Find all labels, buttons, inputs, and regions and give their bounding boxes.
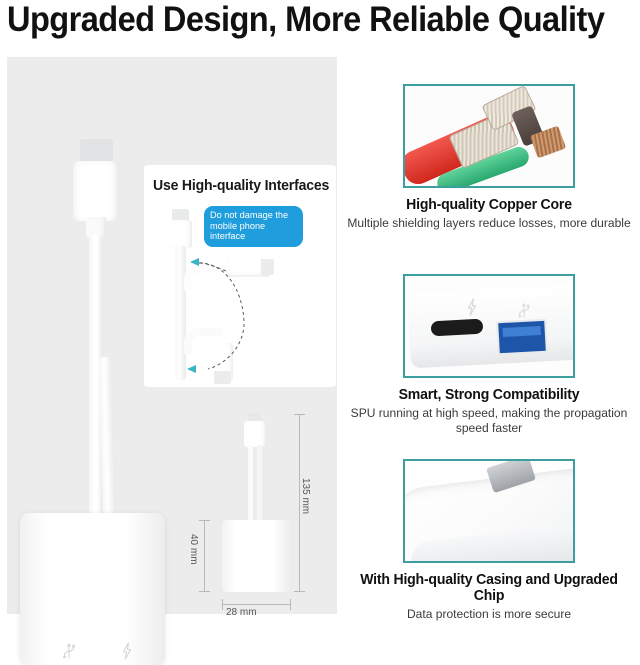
warning-callout-bubble: Do not damage the mobile phone interface [204, 206, 303, 247]
feature-compatibility: Smart, Strong Compatibility SPU running … [344, 274, 634, 436]
dim-height-cap-bottom [294, 591, 305, 592]
feature-subtitle: Multiple shielding layers reduce losses,… [347, 216, 631, 231]
usb3-port [496, 319, 548, 356]
dim-adapter-body [222, 520, 290, 592]
adapter-body [20, 513, 165, 665]
lightning-connector-body [73, 161, 119, 221]
feature-copper-core: High-quality Copper Core Multiple shield… [344, 84, 634, 231]
lightning-port [431, 319, 484, 337]
dim-depth-cap-top [199, 520, 210, 521]
interface-warning-card: Use High-quality Interfaces Do not damag… [144, 165, 336, 387]
dim-width-cap-right [290, 599, 291, 610]
dim-width-label: 28 mm [226, 607, 257, 618]
usb3-tongue [503, 326, 541, 337]
card-connector-body [169, 220, 192, 248]
feature-casing-chip: With High-quality Casing and Upgraded Ch… [344, 459, 634, 622]
page-title: Upgraded Design, More Reliable Quality [7, 0, 604, 42]
page-header: Upgraded Design, More Reliable Quality [0, 0, 640, 43]
lightning-bolt-icon [121, 642, 133, 660]
feature-subtitle: SPU running at high speed, making the pr… [347, 406, 631, 436]
dim-cable-left [248, 445, 253, 523]
dim-depth-line [204, 520, 205, 592]
feature-title: With High-quality Casing and Upgraded Ch… [348, 572, 629, 604]
cable-secondary [99, 357, 116, 515]
dim-cable-right [257, 445, 262, 523]
usb-icon [61, 642, 77, 660]
dim-connector-body [244, 421, 266, 447]
feature-title: Smart, Strong Compatibility [348, 387, 629, 403]
interface-card-title: Use High-quality Interfaces [153, 178, 329, 194]
dim-width-cap-left [222, 599, 223, 610]
dim-width-line [222, 604, 291, 605]
usb-icon [517, 302, 531, 319]
dim-height-label: 135 mm [300, 478, 311, 514]
dim-depth-label: 40 mm [188, 534, 199, 565]
dim-height-cap-top [294, 414, 305, 415]
feature-title: High-quality Copper Core [348, 197, 629, 213]
white-casing-photo [403, 459, 575, 563]
direction-arrows-diagram [164, 247, 314, 387]
copper-core-photo [403, 84, 575, 188]
feature-subtitle: Data protection is more secure [347, 607, 631, 622]
lightning-bolt-icon [465, 298, 479, 316]
adapter-ports-photo [403, 274, 575, 378]
dim-depth-cap-bottom [199, 591, 210, 592]
